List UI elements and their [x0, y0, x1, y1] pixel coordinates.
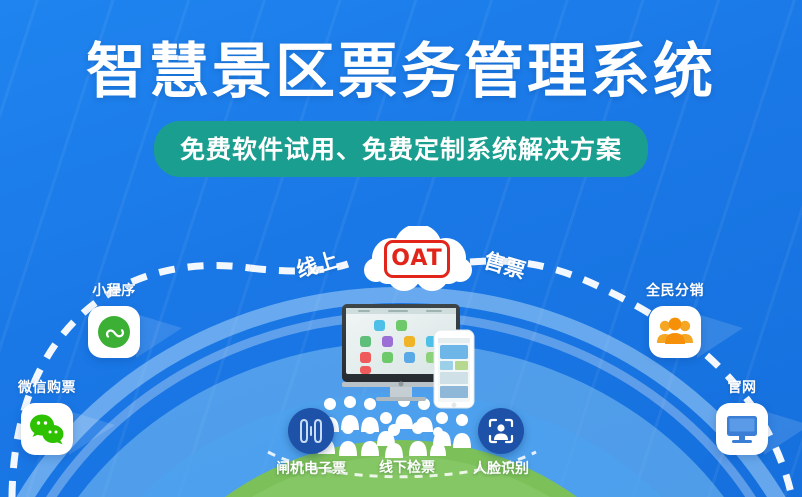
monitor-icon: [725, 413, 759, 445]
node-turnstile-label: 闸机电子票: [276, 458, 346, 478]
node-official-website[interactable]: 官网: [716, 377, 768, 455]
subtitle-badge: 免费软件试用、免费定制系统解决方案: [154, 121, 648, 177]
node-wechat-purchase[interactable]: 微信购票: [18, 377, 76, 455]
node-face-recognition[interactable]: 人脸识别: [473, 408, 529, 478]
face-recognition-icon: [486, 416, 516, 446]
node-official-website-tile[interactable]: [716, 403, 768, 455]
oat-label: OAT: [391, 248, 442, 270]
page-title: 智慧景区票务管理系统: [0, 40, 802, 105]
node-mini-program-tile[interactable]: [88, 306, 140, 358]
node-offline-check-label: 线下检票: [379, 457, 435, 477]
oat-badge: OAT: [384, 240, 450, 278]
node-wechat-purchase-tile[interactable]: [21, 403, 73, 455]
node-turnstile[interactable]: 闸机电子票: [276, 408, 346, 478]
node-mini-program-label: 小程序: [88, 280, 140, 300]
wechat-icon: [29, 412, 65, 446]
node-distribution-label: 全民分销: [646, 280, 704, 300]
node-face-recognition-circle[interactable]: [478, 408, 524, 454]
promo-banner: 智慧景区票务管理系统 免费软件试用、免费定制系统解决方案: [0, 0, 802, 497]
node-wechat-purchase-label: 微信购票: [18, 377, 76, 397]
node-mini-program[interactable]: 小程序: [88, 280, 140, 358]
node-turnstile-circle[interactable]: [288, 408, 334, 454]
distribution-people-icon: [657, 316, 693, 348]
turnstile-gate-icon: [296, 416, 326, 446]
device-illustration: [330, 300, 490, 420]
mini-program-icon: [97, 315, 131, 349]
node-face-recognition-label: 人脸识别: [473, 458, 529, 478]
node-official-website-label: 官网: [716, 377, 768, 397]
node-distribution[interactable]: 全民分销: [646, 280, 704, 358]
banner-header: 智慧景区票务管理系统 免费软件试用、免费定制系统解决方案: [0, 0, 802, 177]
node-distribution-tile[interactable]: [649, 306, 701, 358]
